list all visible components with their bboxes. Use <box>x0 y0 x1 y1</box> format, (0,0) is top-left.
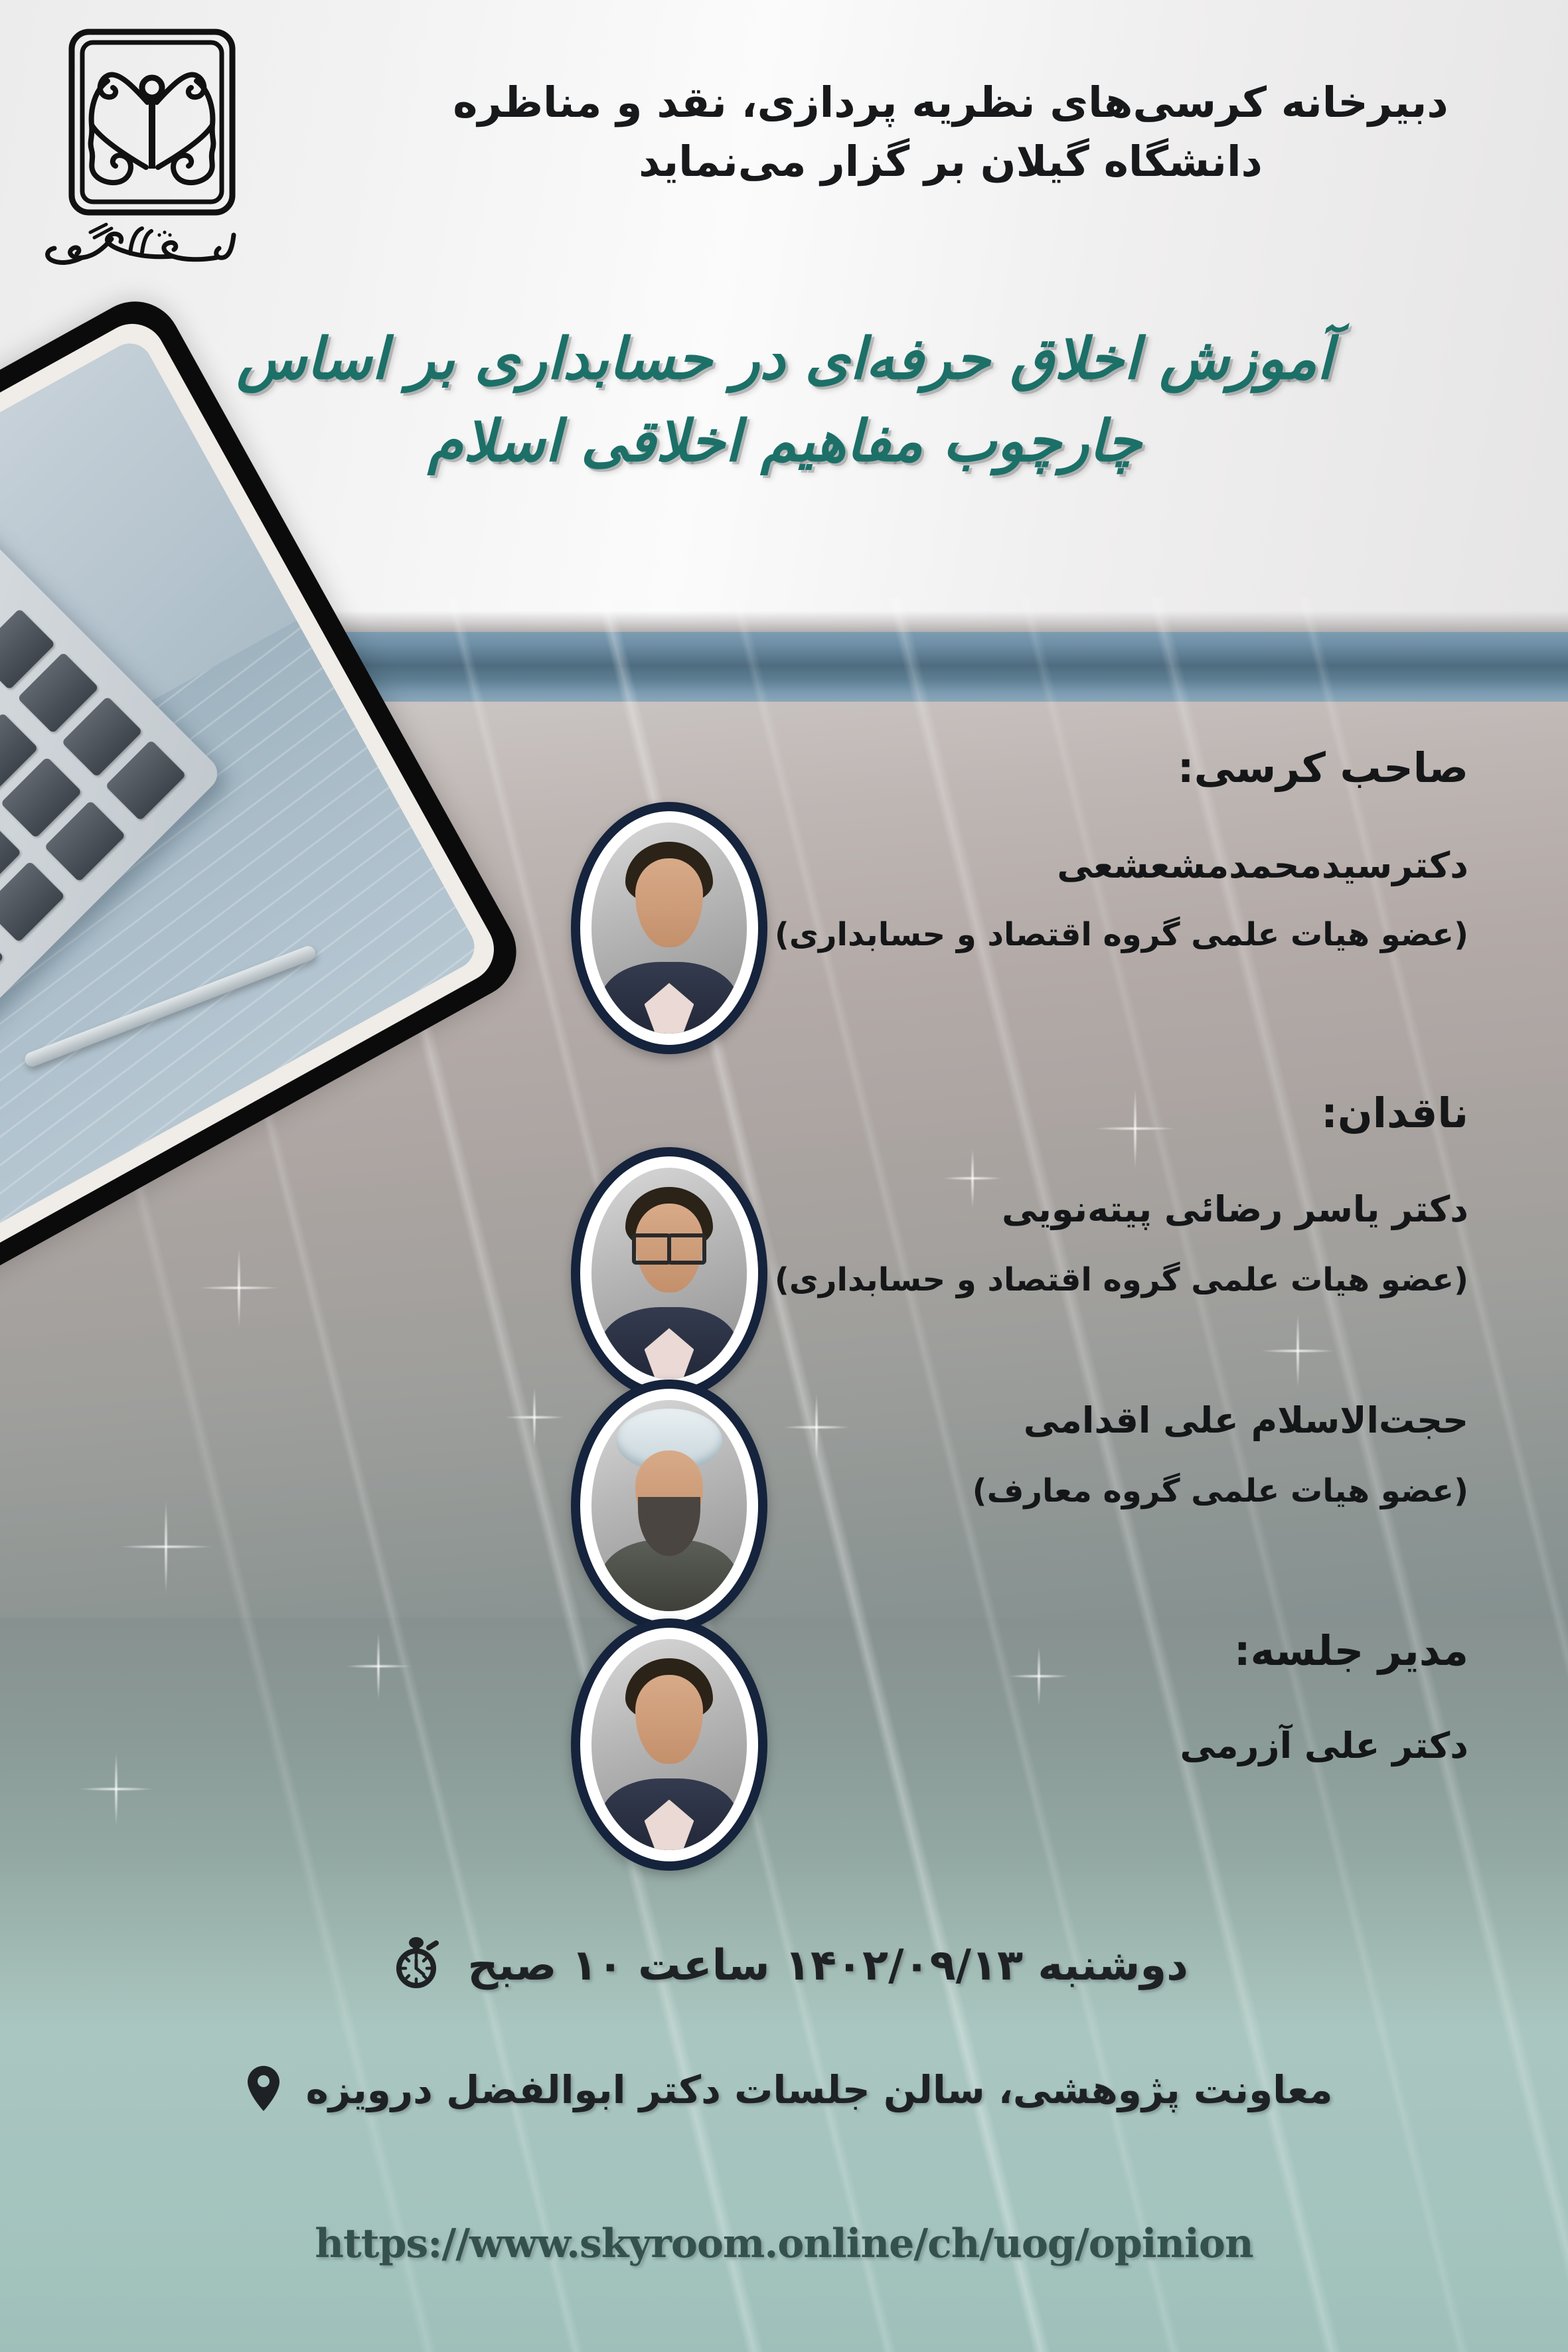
organizer-header-line2: دانشگاه گیلان بر گزار می‌نماید <box>413 132 1488 191</box>
portrait-face <box>635 858 704 947</box>
avatar-critic-1 <box>571 1147 767 1399</box>
event-location: معاونت پژوهشی، سالن جلسات دکتر ابوالفضل … <box>0 2065 1568 2112</box>
event-datetime: دوشنبه ۱۴۰۲/۰۹/۱۳ ساعت ۱۰ صبح <box>0 1937 1568 1990</box>
page-title-line1: آموزش اخلاق حرفه‌ای در حسابداری بر اساس <box>101 319 1468 401</box>
person-name-session-director: دکتر علی آزرمی <box>1180 1725 1468 1766</box>
page-title-line2: چارچوب مفاهیم اخلاقی اسلام <box>101 401 1468 483</box>
avatar-ring <box>580 1389 758 1622</box>
map-pin-icon <box>246 2065 281 2112</box>
avatar-chair-holder <box>571 802 767 1054</box>
event-poster: دبیرخانه کرسی‌های نظریه پردازی، نقد و من… <box>0 0 1568 2352</box>
role-label-critics: ناقدان: <box>1321 1089 1468 1137</box>
stopwatch-icon <box>390 1937 442 1989</box>
portrait-image <box>591 1400 747 1611</box>
portrait-image <box>591 1168 747 1379</box>
university-logo-caption-icon <box>42 219 242 276</box>
organizer-header-line1: دبیرخانه کرسی‌های نظریه پردازی، نقد و من… <box>413 73 1488 132</box>
portrait-image <box>591 823 747 1034</box>
avatar-session-director <box>571 1618 767 1871</box>
person-affiliation-critic-1: (عضو هیات علمی گروه اقتصاد و حسابداری) <box>775 1261 1468 1298</box>
person-name-chair-holder: دکترسیدمحمدمشعشعی <box>1057 844 1468 886</box>
avatar-ring <box>580 1156 758 1390</box>
avatar-ring <box>580 811 758 1045</box>
organizer-header: دبیرخانه کرسی‌های نظریه پردازی، نقد و من… <box>413 73 1488 192</box>
person-name-critic-1: دکتر یاسر رضائی پیته‌نویی <box>1002 1188 1468 1230</box>
person-affiliation-critic-2: (عضو هیات علمی گروه معارف) <box>973 1472 1468 1510</box>
portrait-face <box>635 1675 704 1764</box>
event-url: https://www.skyroom.online/ch/uog/opinio… <box>0 2221 1568 2267</box>
avatar-critic-2 <box>571 1379 767 1632</box>
gilan-university-emblem-icon <box>62 24 242 223</box>
person-name-critic-2: حجت‌الاسلام علی اقدامی <box>1024 1399 1468 1441</box>
avatar-ring <box>580 1628 758 1861</box>
person-affiliation-chair-holder: (عضو هیات علمی گروه اقتصاد و حسابداری) <box>775 916 1468 953</box>
role-label-chair-holder: صاحب کرسی: <box>1178 744 1468 792</box>
portrait-glasses-icon <box>632 1233 706 1257</box>
event-location-text: معاونت پژوهشی، سالن جلسات دکتر ابوالفضل … <box>306 2067 1333 2112</box>
role-label-session-director: مدیر جلسه: <box>1234 1626 1468 1675</box>
portrait-image <box>591 1639 747 1850</box>
university-logo <box>23 24 242 276</box>
event-datetime-text: دوشنبه ۱۴۰۲/۰۹/۱۳ ساعت ۱۰ صبح <box>467 1941 1188 1990</box>
page-title: آموزش اخلاق حرفه‌ای در حسابداری بر اساس … <box>101 319 1468 483</box>
